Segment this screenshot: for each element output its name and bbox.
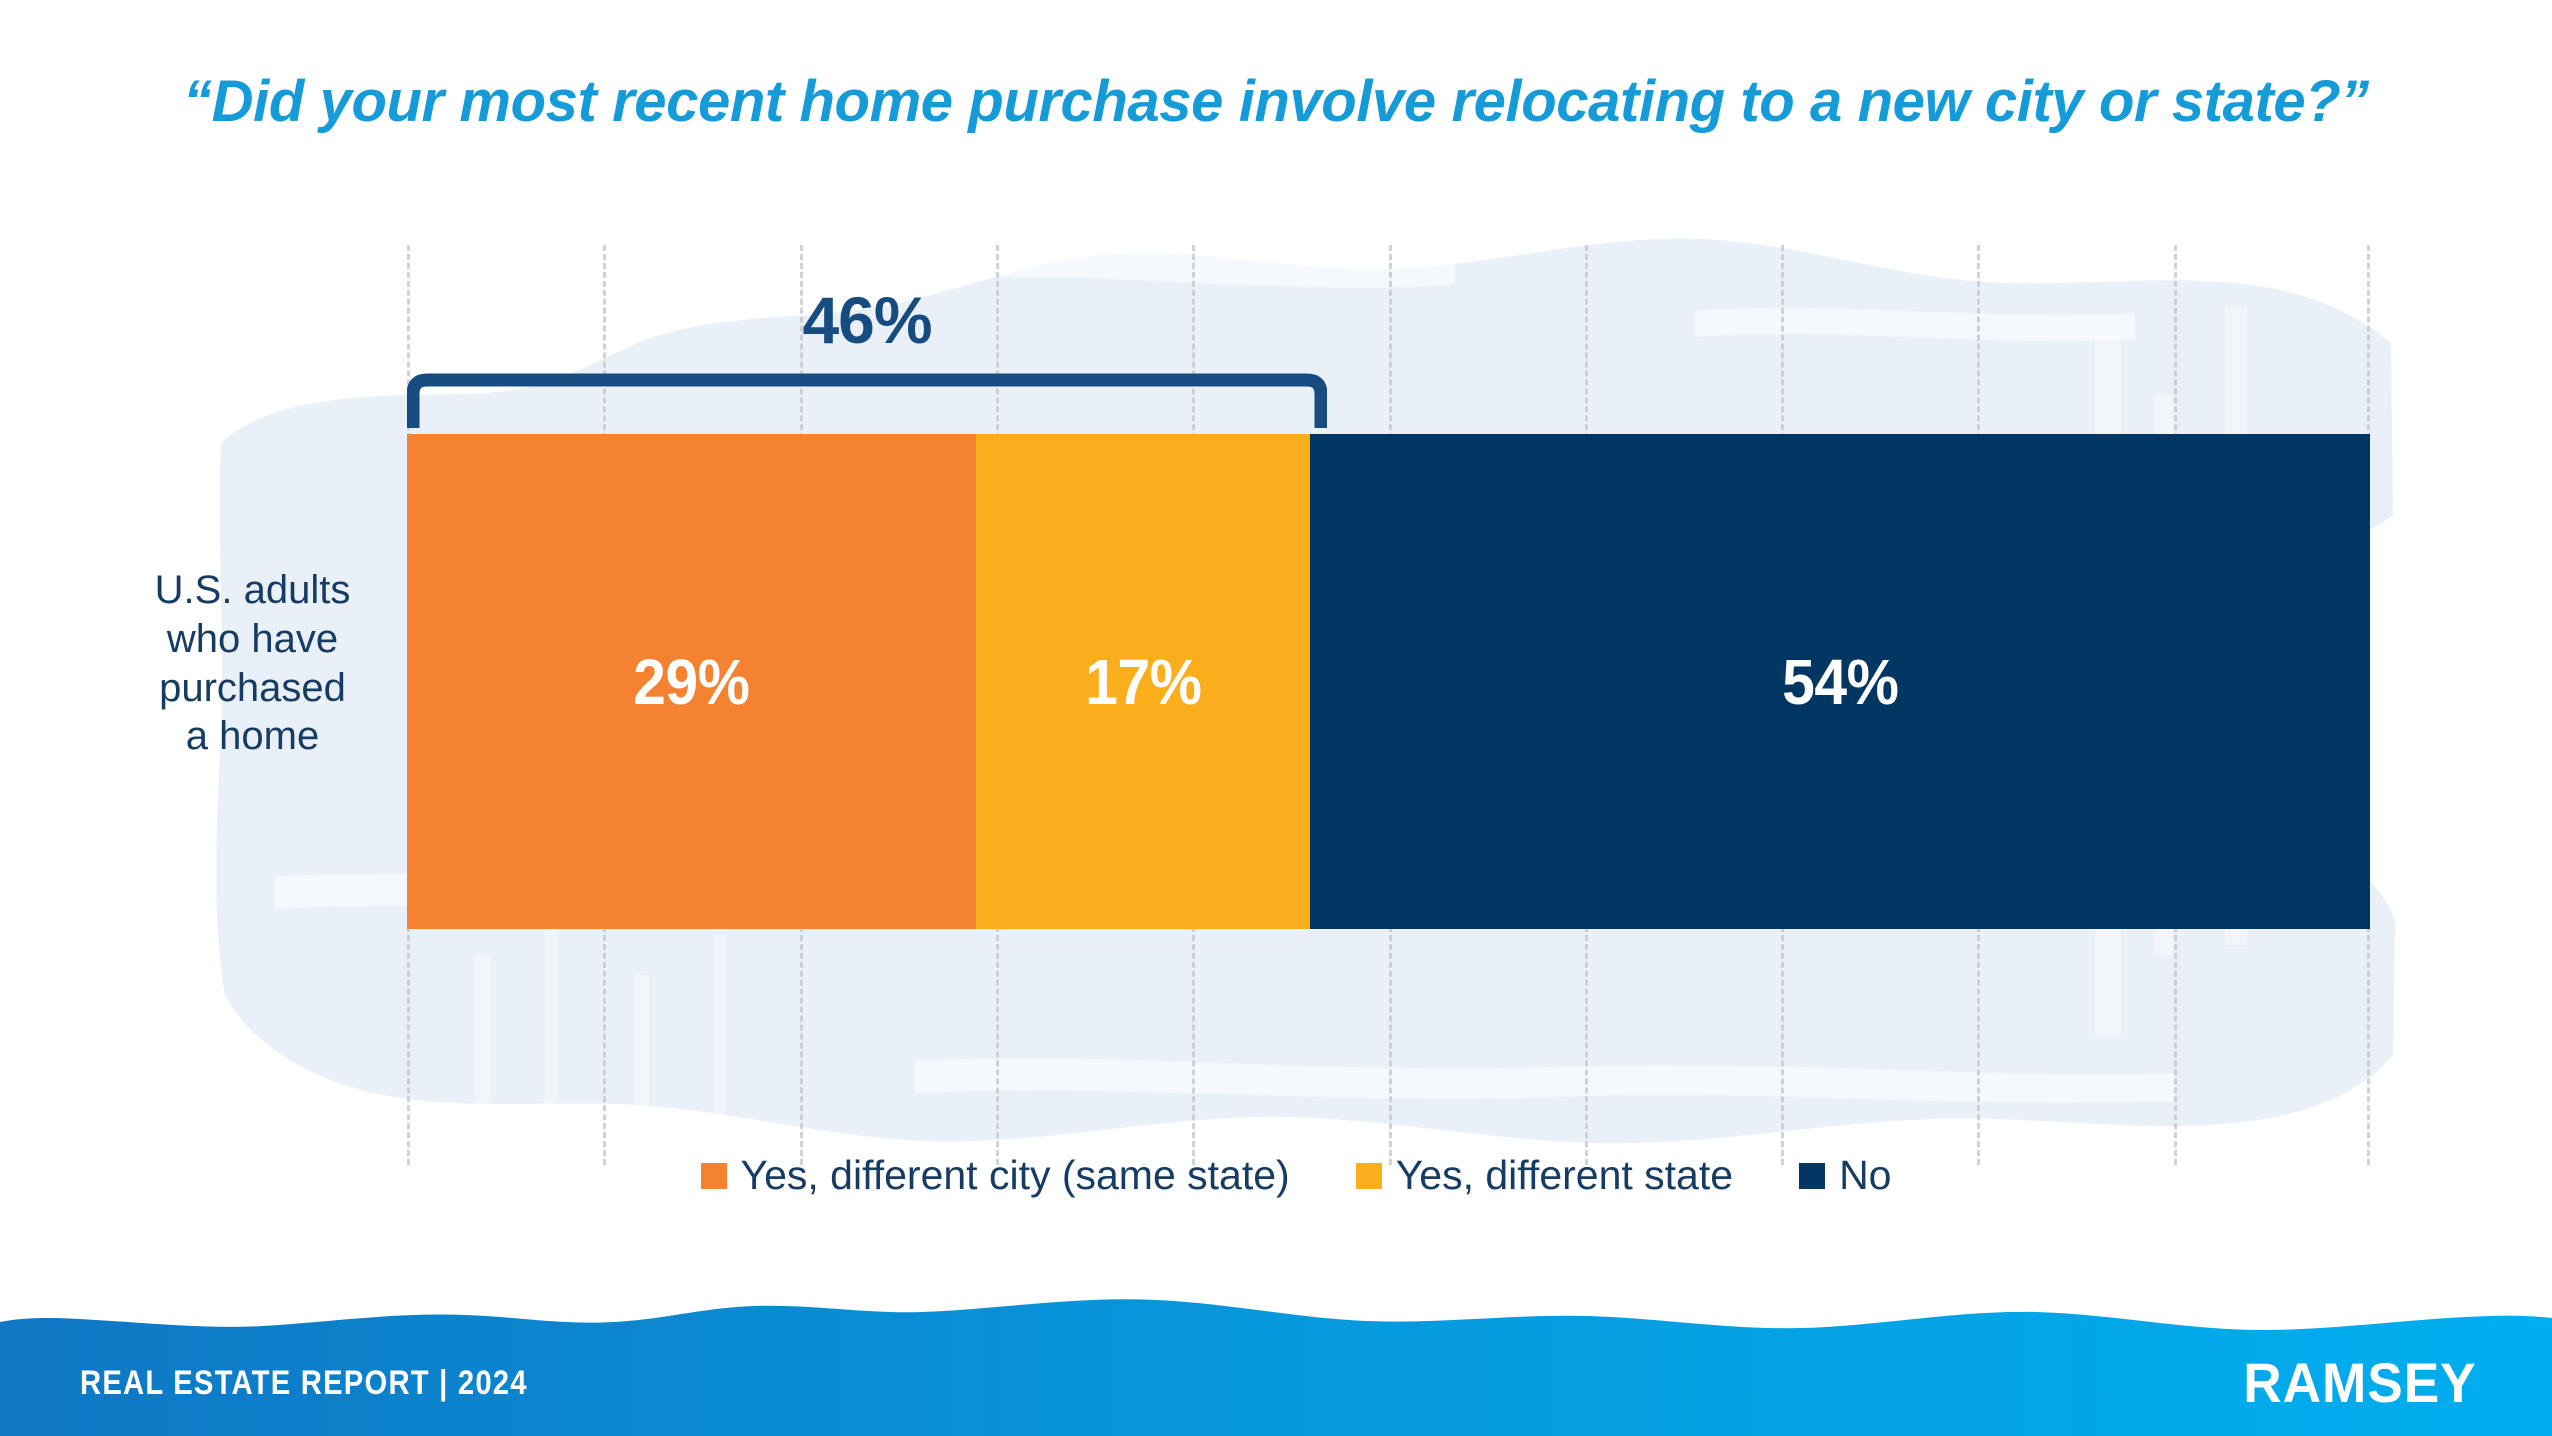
annotation-label-46: 46% — [407, 282, 1327, 358]
square-swatch-icon — [701, 1163, 727, 1189]
category-axis-label: U.S. adults who have purchased a home — [120, 566, 385, 761]
square-swatch-icon — [1356, 1163, 1382, 1189]
bar-value-label: 17% — [1085, 645, 1201, 719]
footer-band: REAL ESTATE REPORT | 2024 RAMSEY — [0, 1288, 2552, 1436]
category-line-1: U.S. adults — [155, 568, 351, 612]
chart-title: “Did your most recent home purchase invo… — [0, 68, 2552, 135]
legend-item-label: Yes, different state — [1396, 1152, 1733, 1199]
footer-caption: REAL ESTATE REPORT | 2024 — [80, 1364, 528, 1403]
bar-segment-no[interactable]: 54% — [1310, 434, 2370, 929]
legend-item-label: Yes, different city (same state) — [741, 1152, 1290, 1199]
legend-item-yes-different-city[interactable]: Yes, different city (same state) — [701, 1152, 1290, 1199]
bar-value-label: 29% — [633, 645, 749, 719]
category-line-2: who have — [167, 617, 338, 661]
category-line-4: a home — [186, 714, 319, 758]
legend-item-label: No — [1839, 1152, 1891, 1199]
annotation-bracket — [407, 372, 1327, 434]
stacked-bar-chart: 29% 17% 54% — [407, 434, 2370, 929]
bar-segment-yes-different-state[interactable]: 17% — [976, 434, 1310, 929]
legend-item-no[interactable]: No — [1799, 1152, 1891, 1199]
square-swatch-icon — [1799, 1163, 1825, 1189]
chart-legend: Yes, different city (same state) Yes, di… — [0, 1152, 2552, 1199]
bar-segment-yes-different-city[interactable]: 29% — [407, 434, 976, 929]
chart-canvas: “Did your most recent home purchase invo… — [0, 0, 2552, 1436]
category-line-3: purchased — [159, 666, 346, 710]
bar-value-label: 54% — [1782, 645, 1898, 719]
legend-item-yes-different-state[interactable]: Yes, different state — [1356, 1152, 1733, 1199]
ramsey-logo: RAMSEY — [2244, 1350, 2477, 1415]
